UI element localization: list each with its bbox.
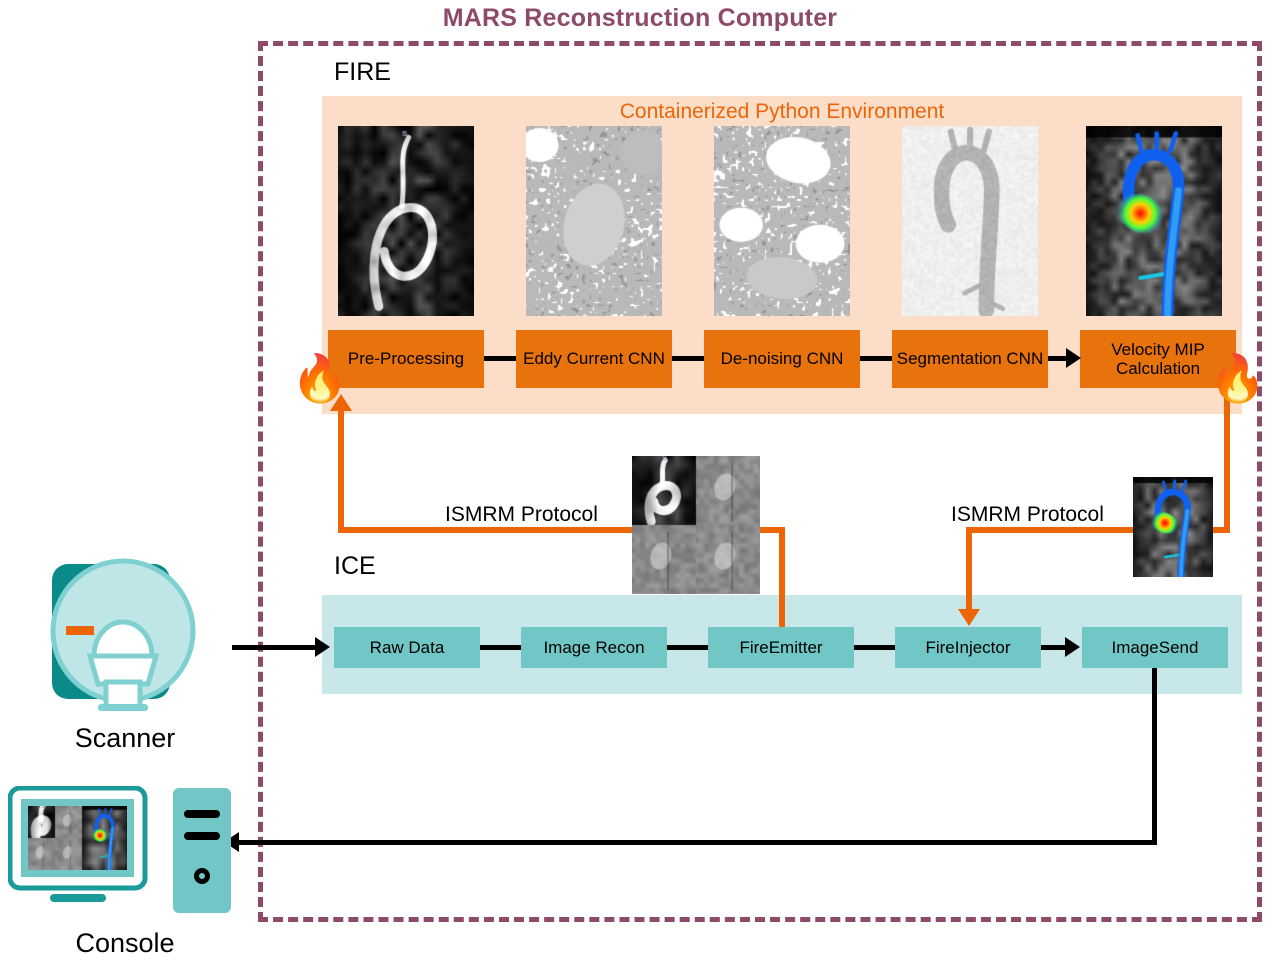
- section-label-ice: ICE: [334, 552, 376, 581]
- denoising-thumb: [714, 126, 850, 316]
- ismrm-montage-thumb: [632, 456, 760, 594]
- fire-connector-4: [1048, 356, 1068, 361]
- ice-step-fire-emitter[interactable]: FireEmitter: [708, 627, 854, 668]
- scanner-to-ice-arrowhead: [315, 637, 330, 657]
- imagesend-to-console-vline: [1152, 668, 1157, 845]
- ismrm-mip-thumb: [1133, 477, 1213, 577]
- scanner-to-ice-line: [232, 645, 317, 650]
- flame-icon-right: 🔥: [1209, 355, 1266, 401]
- ice-connector-4: [1041, 645, 1067, 650]
- fire-connector-4-arrowhead: [1066, 348, 1081, 368]
- fire-step-eddy-current-cnn[interactable]: Eddy Current CNN: [516, 330, 672, 388]
- console-monitor-icon: [8, 786, 160, 904]
- ice-step-fire-injector[interactable]: FireInjector: [895, 627, 1041, 668]
- ismrm-protocol-label-left: ISMRM Protocol: [441, 503, 602, 527]
- fire-entry-orange-vline: [338, 408, 344, 530]
- fire-step-segmentation-cnn[interactable]: Segmentation CNN: [892, 330, 1048, 388]
- fire-connector-1: [484, 356, 516, 361]
- ice-connector-4-arrowhead: [1065, 637, 1080, 657]
- segmentation-thumb: [902, 126, 1038, 316]
- ice-connector-3: [854, 645, 895, 650]
- fire-exit-orange-vline: [1224, 398, 1230, 527]
- flame-icon-left: 🔥: [291, 355, 348, 401]
- eddy-current-thumb: [526, 126, 662, 316]
- fire-step-de-noising-cnn[interactable]: De-noising CNN: [704, 330, 860, 388]
- ice-connector-2: [667, 645, 708, 650]
- fireinjector-orange-vline: [966, 527, 972, 613]
- fire-connector-2: [672, 356, 704, 361]
- ice-step-raw-data[interactable]: Raw Data: [334, 627, 480, 668]
- page-title: MARS Reconstruction Computer: [0, 4, 1280, 33]
- preprocessing-thumb: [338, 126, 474, 316]
- scanner-label: Scanner: [0, 723, 250, 754]
- velocity-mip-thumb: [1086, 126, 1222, 316]
- fire-connector-3: [860, 356, 892, 361]
- ismrm-protocol-label-right: ISMRM Protocol: [947, 503, 1108, 527]
- console-tower-icon: [173, 788, 231, 913]
- containerized-python-environment-label: Containerized Python Environment: [322, 100, 1242, 124]
- imagesend-to-console-hline: [238, 840, 1157, 845]
- ice-step-image-send[interactable]: ImageSend: [1082, 627, 1228, 668]
- fireinjector-arrowhead: [958, 609, 980, 626]
- section-label-fire: FIRE: [334, 58, 391, 87]
- mri-scanner-icon: [38, 556, 208, 716]
- fire-step-pre-processing[interactable]: Pre-Processing: [328, 330, 484, 388]
- ice-connector-1: [480, 645, 521, 650]
- console-label: Console: [0, 928, 250, 959]
- fireemitter-orange-vline: [779, 527, 785, 627]
- ice-step-image-recon[interactable]: Image Recon: [521, 627, 667, 668]
- diagram-canvas: MARS Reconstruction Computer FIRE Contai…: [0, 0, 1280, 977]
